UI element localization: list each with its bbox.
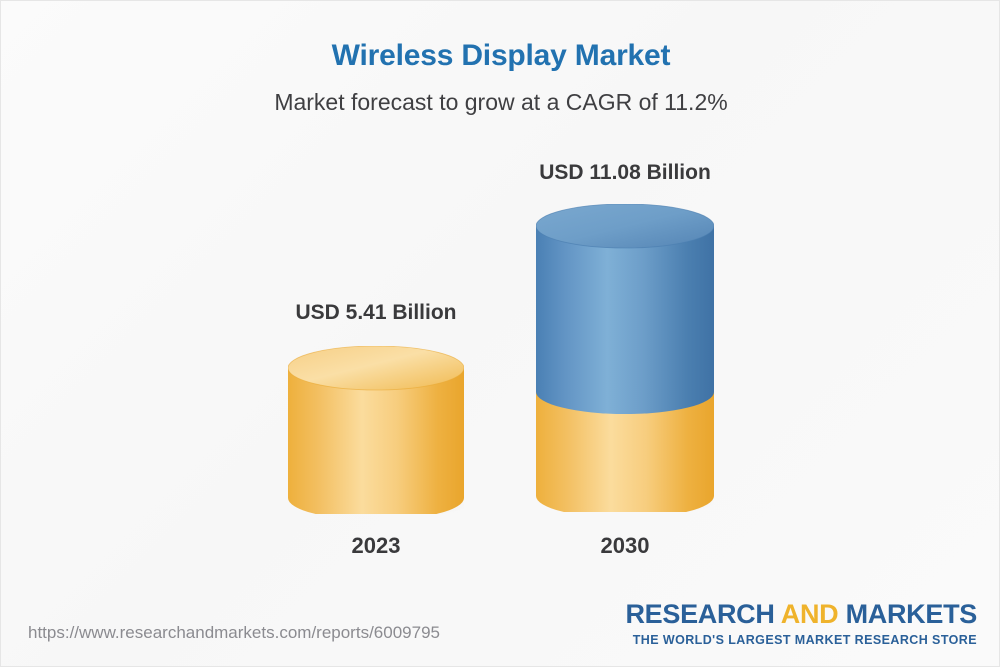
cylinder-2023 [288, 346, 464, 514]
cylinder-2023-svg [288, 346, 464, 514]
category-label-2030: 2030 [536, 533, 714, 559]
chart-canvas: Wireless Display Market Market forecast … [0, 0, 1000, 667]
logo-wordmark: RESEARCH AND MARKETS [625, 601, 977, 628]
logo-word-markets: MARKETS [846, 599, 977, 629]
cylinder-2030 [536, 204, 714, 512]
plot-area: USD 5.41 Billion [1, 1, 1000, 601]
data-label-2023: USD 5.41 Billion [288, 301, 464, 325]
logo-word-and: AND [781, 599, 839, 629]
data-label-2030: USD 11.08 Billion [536, 161, 714, 185]
brand-logo[interactable]: RESEARCH AND MARKETS THE WORLD'S LARGEST… [625, 601, 977, 647]
category-label-2023: 2023 [288, 533, 464, 559]
cylinder-2030-svg [536, 204, 714, 512]
logo-word-research: RESEARCH [625, 599, 774, 629]
source-url[interactable]: https://www.researchandmarkets.com/repor… [28, 623, 440, 643]
logo-tagline: THE WORLD'S LARGEST MARKET RESEARCH STOR… [625, 633, 977, 647]
